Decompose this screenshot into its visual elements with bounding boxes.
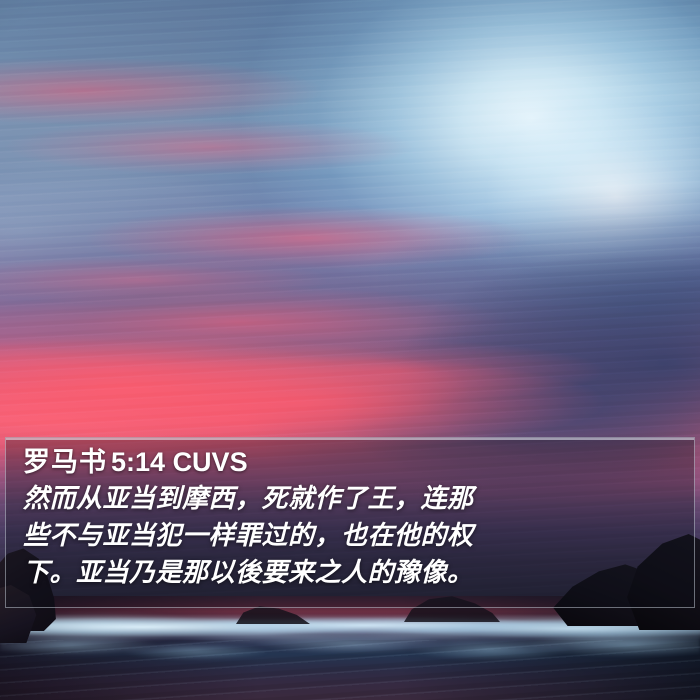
verse-reference-location: 5:14 [111,447,165,477]
verse-image-canvas: 罗马书5:14 CUVS 然而从亚当到摩西，死就作了王，连那 些不与亚当犯一样罪… [0,0,700,700]
verse-text-line-3: 下。亚当乃是那以後要来之人的豫像。 [23,554,680,591]
verse-reference-version: CUVS [173,447,248,477]
verse-text-line-2: 些不与亚当犯一样罪过的，也在他的权 [23,517,680,554]
verse-text: 然而从亚当到摩西，死就作了王，连那 些不与亚当犯一样罪过的，也在他的权 下。亚当… [23,480,680,591]
verse-reference-book: 罗马书 [23,447,107,477]
verse-text-line-1: 然而从亚当到摩西，死就作了王，连那 [23,480,680,517]
verse-overlay-panel: 罗马书5:14 CUVS 然而从亚当到摩西，死就作了王，连那 些不与亚当犯一样罪… [5,437,695,608]
verse-reference: 罗马书5:14 CUVS [23,445,680,479]
